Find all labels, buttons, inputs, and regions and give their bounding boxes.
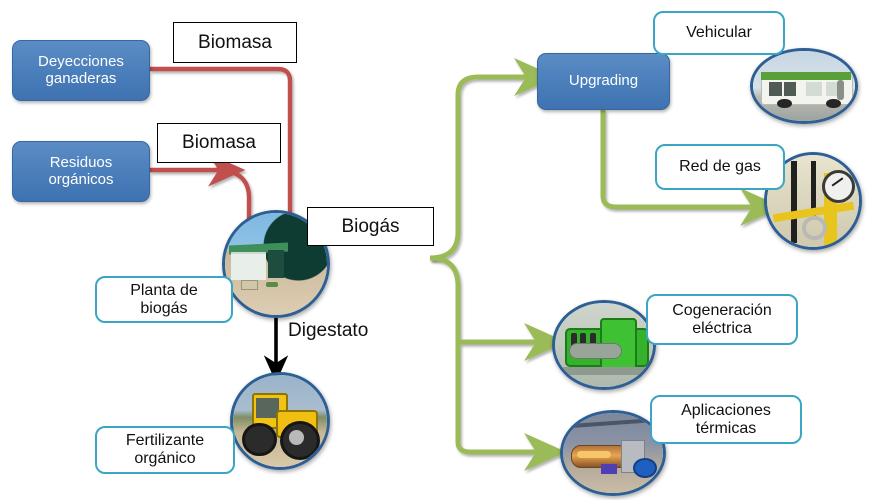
label-biomasa-bottom-text: Biomasa <box>182 132 256 153</box>
node-fertilizante-line2: orgánico <box>126 450 204 468</box>
label-digestato-text: Digestato <box>288 320 368 341</box>
node-deyecciones-line2: ganaderas <box>38 71 124 88</box>
node-planta-line1: Planta de <box>130 282 198 300</box>
diagram-canvas: Deyecciones ganaderas Residuos orgánicos… <box>0 0 878 500</box>
node-residuos-line2: orgánicos <box>48 172 113 189</box>
node-vehicular[interactable]: Vehicular <box>653 11 785 55</box>
node-red-de-gas-label: Red de gas <box>679 158 761 176</box>
node-upgrading-label: Upgrading <box>569 73 638 90</box>
node-planta-de-biogas[interactable]: Planta de biogás <box>95 276 233 323</box>
label-biomasa-top: Biomasa <box>173 22 297 63</box>
photo-autobus-vehicular <box>750 48 858 124</box>
photo-motor-cogeneracion <box>552 300 656 390</box>
node-vehicular-label: Vehicular <box>686 24 752 42</box>
node-cogeneracion-electrica[interactable]: Cogeneración eléctrica <box>646 294 798 345</box>
node-cogeneracion-line2: eléctrica <box>672 320 772 338</box>
node-fertilizante-line1: Fertilizante <box>126 432 204 450</box>
node-planta-line2: biogás <box>130 300 198 318</box>
node-residuos-line1: Residuos <box>48 155 113 172</box>
label-biomasa-bottom: Biomasa <box>157 123 281 163</box>
label-digestato: Digestato <box>288 320 368 342</box>
photo-tractor-fertilizante <box>230 372 330 470</box>
node-upgrading[interactable]: Upgrading <box>537 53 670 110</box>
label-biogas-text: Biogás <box>341 216 399 237</box>
arrow-biogas-down-trunk <box>430 258 540 452</box>
node-red-de-gas[interactable]: Red de gas <box>655 144 785 190</box>
node-aplicaciones-line1: Aplicaciones <box>681 402 771 420</box>
label-biogas: Biogás <box>307 207 434 246</box>
node-aplicaciones-line2: térmicas <box>681 420 771 438</box>
node-fertilizante-organico[interactable]: Fertilizante orgánico <box>95 426 235 474</box>
arrow-biogas-to-upgrading <box>430 77 530 258</box>
node-residuos-organicos[interactable]: Residuos orgánicos <box>12 141 150 202</box>
node-deyecciones-line1: Deyecciones <box>38 54 124 71</box>
label-biomasa-top-text: Biomasa <box>198 32 272 53</box>
node-cogeneracion-line1: Cogeneración <box>672 302 772 320</box>
node-aplicaciones-termicas[interactable]: Aplicaciones térmicas <box>650 395 802 444</box>
node-deyecciones-ganaderas[interactable]: Deyecciones ganaderas <box>12 40 150 101</box>
